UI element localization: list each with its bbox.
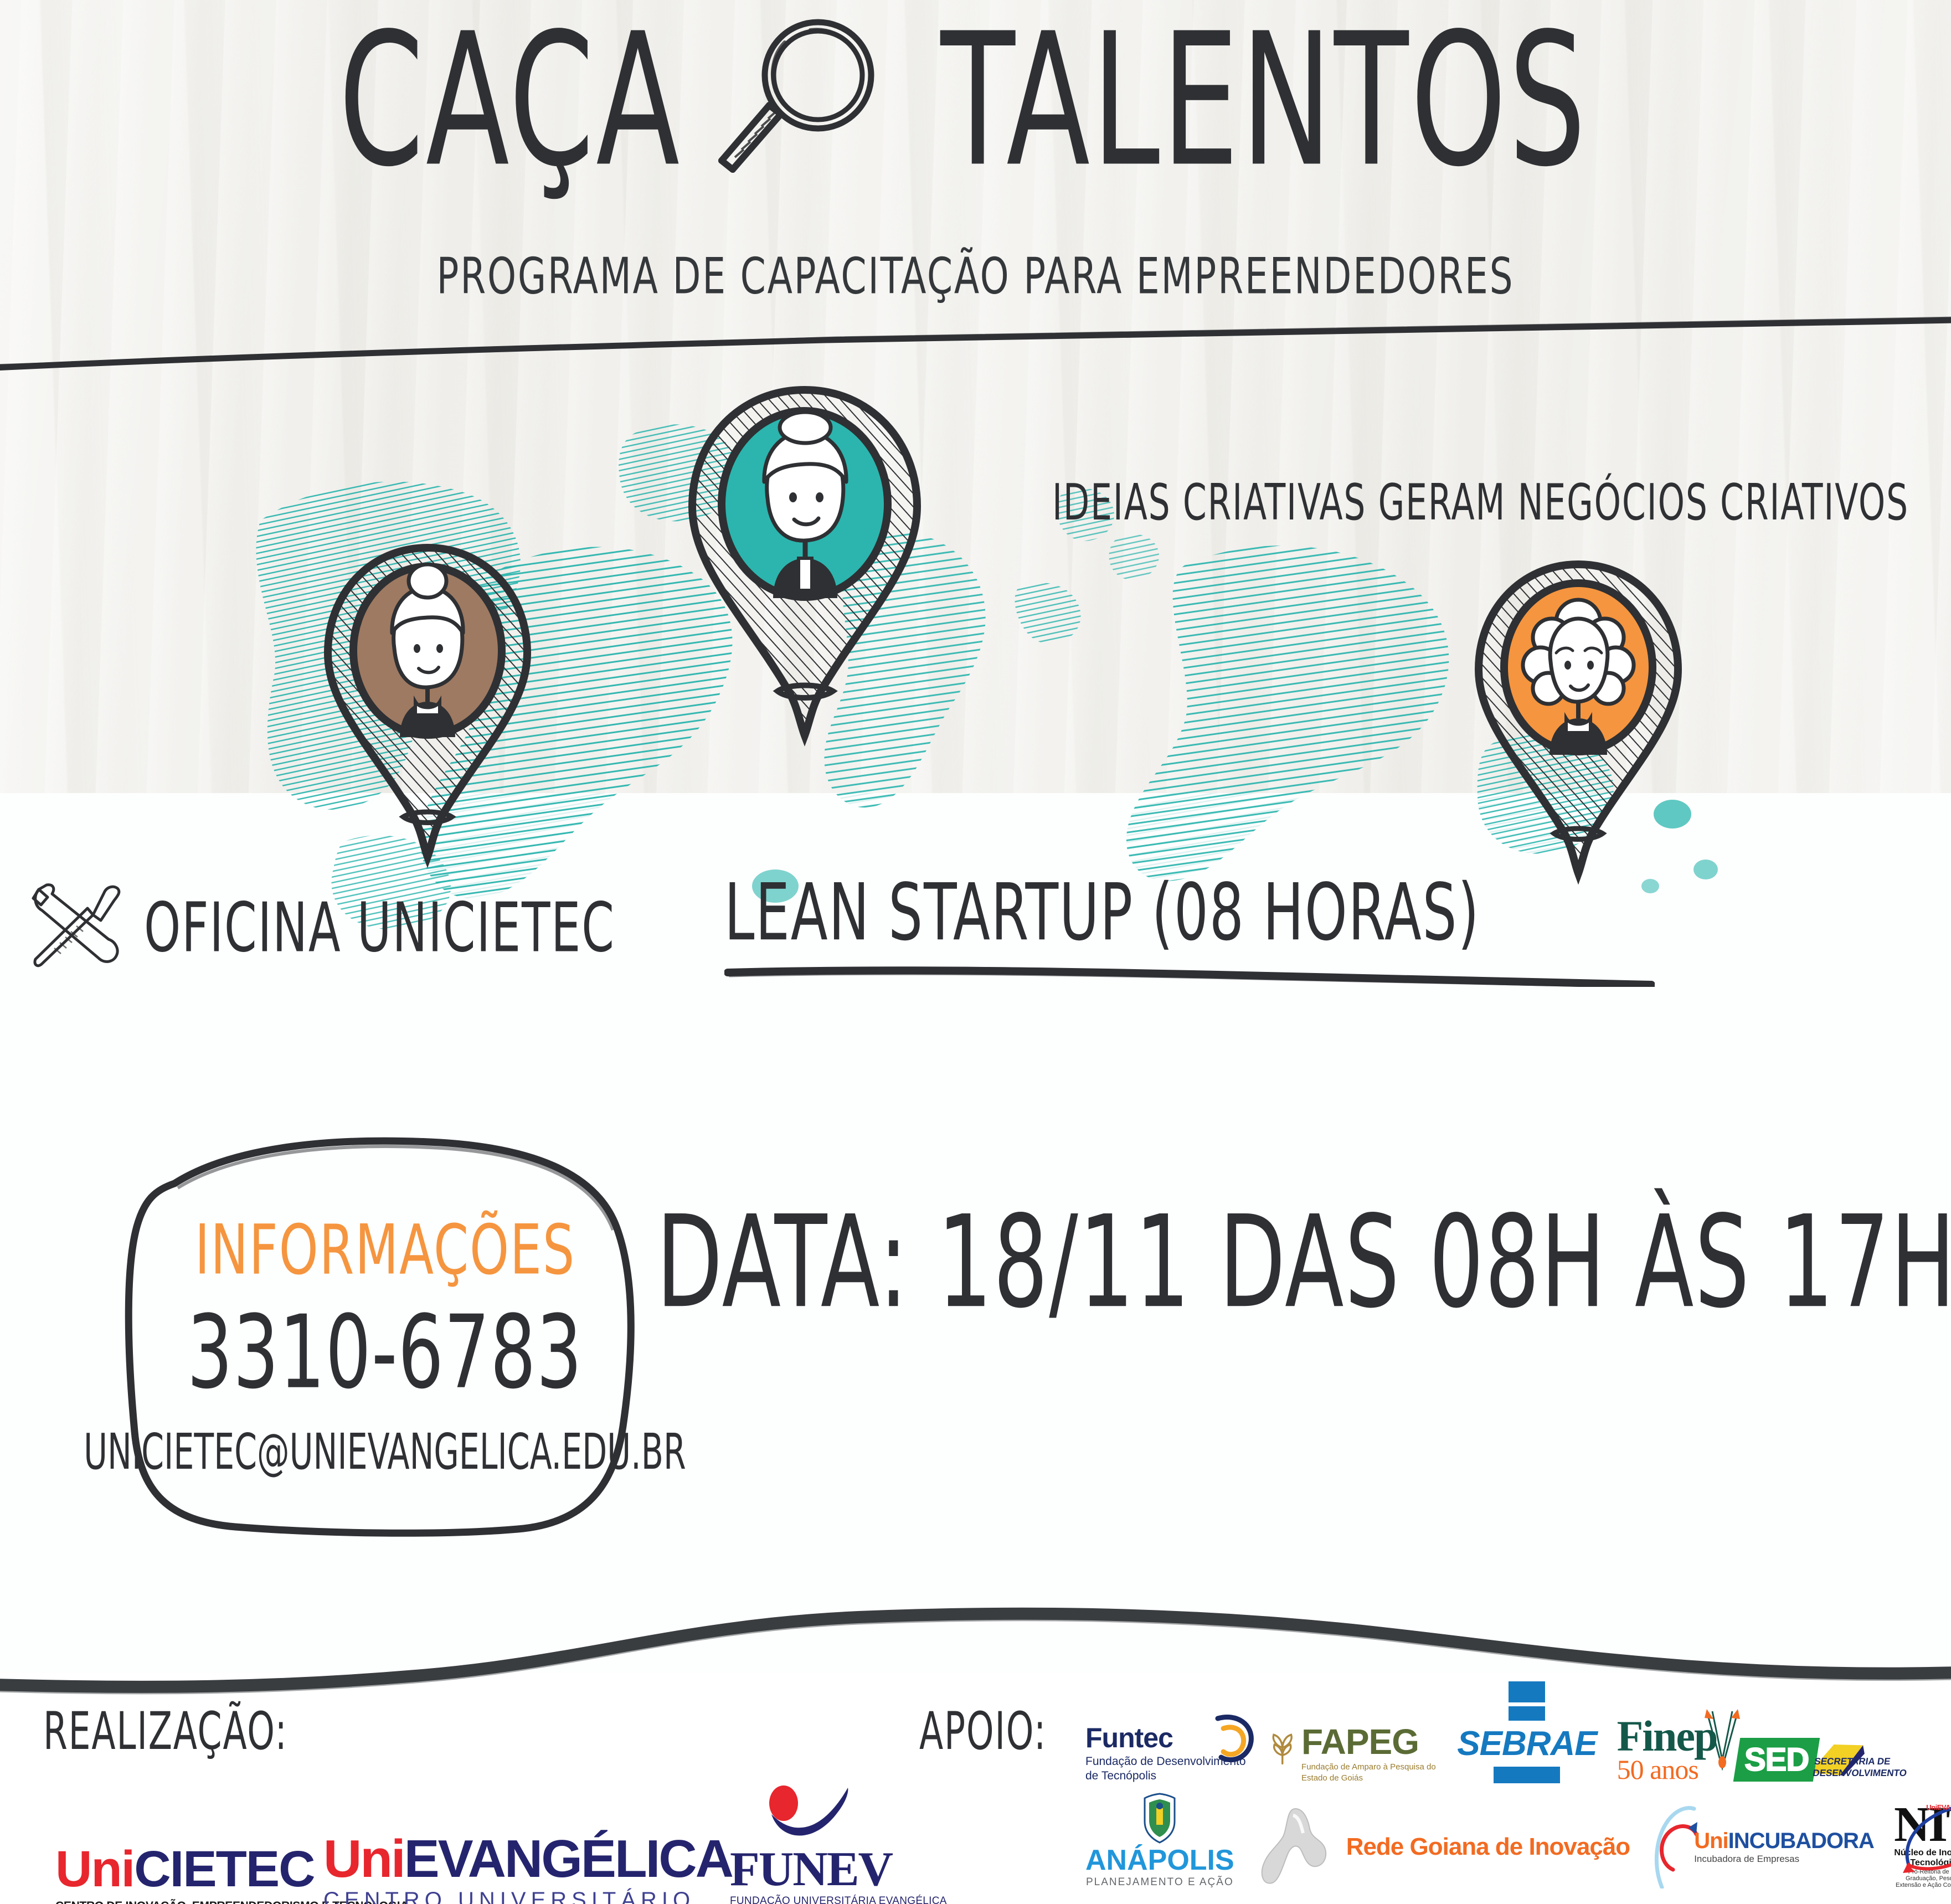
nit-badge: UniEVANGÉLICA: [1926, 1803, 1951, 1812]
poster-footer: REALIZAÇÃO: APOIO: UniCIETEC CENTRO DE I…: [0, 1673, 1951, 1904]
oficina-block: OFICINA UNICIETEC: [25, 881, 667, 975]
unicietec-wordmark: UniCIETEC: [55, 1845, 288, 1893]
poster-title-part2: TALENTOS: [940, 16, 1588, 188]
finep-wordmark: Finep: [1617, 1717, 1717, 1756]
logo-sebrae: SEBRAE: [1457, 1681, 1597, 1783]
unievangelica-tagline: CENTRO UNIVERSITÁRIO: [323, 1888, 694, 1904]
apoio-row-2: ANÁPOLIS PLANEJAMENTO E AÇÃO Rede Goiana…: [1085, 1783, 1933, 1888]
info-heading: INFORMAÇÕES: [194, 1211, 575, 1290]
sebrae-bar-mid: [1509, 1706, 1545, 1721]
logo-unievangelica: UniEVANGÉLICA CENTRO UNIVERSITÁRIO: [323, 1834, 694, 1904]
anapolis-wordmark: ANÁPOLIS: [1085, 1846, 1234, 1875]
funev-wordmark: FUNEV: [730, 1846, 879, 1893]
magnifying-glass-icon: [707, 10, 890, 193]
course-title: LEAN STARTUP (08 HORAS): [724, 866, 1581, 958]
poster-header: CAÇA: [0, 0, 1951, 332]
sebrae-bar-top: [1509, 1681, 1545, 1702]
logo-nit: UniEVANGÉLICA NIT Núcleo de Inovação Tec…: [1894, 1802, 1951, 1888]
logo-rede-goiana: Rede Goiana de Inovação: [1254, 1805, 1630, 1888]
map-pin-orange: [1468, 557, 1689, 900]
info-phone[interactable]: 3310-6783: [187, 1293, 583, 1411]
uniincubadora-swoosh-icon: [1650, 1805, 1698, 1888]
wrench-screwdriver-icon: [25, 881, 131, 975]
info-bubble: INFORMAÇÕES 3310-6783 UNICIETEC@UNIEVANG…: [108, 1133, 662, 1542]
funtec-swirl-icon: [1207, 1712, 1255, 1765]
info-email[interactable]: UNICIETEC@UNIEVANGELICA.EDU.BR: [84, 1423, 686, 1480]
hero-tagline: IDEIAS CRIATIVAS GERAM NEGÓCIOS CRIATIVO…: [1052, 473, 1830, 531]
rede-goiana-wordmark: Rede Goiana de Inovação: [1346, 1833, 1630, 1861]
uniincubadora-wordmark-a: Uni: [1694, 1829, 1728, 1853]
unievangelica-wordmark-a: Uni: [323, 1829, 404, 1888]
logo-sed: SED SECRETARIA DE DESENVOLVIMENTO: [1737, 1736, 1933, 1783]
rede-goiana-blob-icon: [1254, 1805, 1343, 1888]
poster-subtitle: PROGRAMA DE CAPACITAÇÃO PARA EMPREENDEDO…: [78, 247, 1873, 305]
sebrae-wordmark: SEBRAE: [1457, 1724, 1597, 1763]
logo-anapolis: ANÁPOLIS PLANEJAMENTO E AÇÃO: [1085, 1792, 1234, 1888]
apoio-logos: Funtec Fundação de Desenvolvimento de Te…: [1085, 1678, 1933, 1888]
logo-funtec: Funtec Fundação de Desenvolvimento de Te…: [1085, 1724, 1248, 1784]
unicietec-wordmark-b: CIETEC: [134, 1841, 314, 1897]
poster-root: CAÇA: [0, 0, 1951, 1904]
funev-swoosh-icon: [755, 1783, 854, 1844]
logo-finep: Finep 50 anos: [1617, 1717, 1717, 1783]
anapolis-crest-icon: [1141, 1792, 1178, 1845]
title-row: CAÇA: [0, 10, 1951, 193]
map-pin-brown: [317, 540, 538, 883]
info-content: INFORMAÇÕES 3310-6783 UNICIETEC@UNIEVANG…: [108, 1133, 662, 1542]
unicietec-wordmark-a: Uni: [55, 1841, 134, 1897]
apoio-label: APOIO:: [919, 1702, 1047, 1762]
fapeg-leaf-icon: [1268, 1724, 1297, 1773]
sed-badge: SED: [1733, 1738, 1820, 1782]
logo-unicietec: UniCIETEC CENTRO DE INOVAÇÃO, EMPREENDED…: [55, 1845, 288, 1904]
unievangelica-wordmark-b: EVANGÉLICA: [404, 1829, 732, 1888]
logo-fapeg: FAPEG Fundação de Amparo à Pesquisa do E…: [1268, 1724, 1438, 1783]
sed-wordmark: SED: [1744, 1741, 1809, 1778]
funev-tagline: FUNDAÇÃO UNIVERSITÁRIA EVANGÉLICA: [730, 1895, 879, 1904]
anapolis-tagline: PLANEJAMENTO E AÇÃO: [1085, 1876, 1234, 1888]
realizacao-logos: UniCIETEC CENTRO DE INOVAÇÃO, EMPREENDED…: [55, 1783, 879, 1904]
uniincubadora-tagline: Incubadora de Empresas: [1694, 1854, 1874, 1865]
realizacao-label: REALIZAÇÃO:: [43, 1702, 288, 1762]
poster-title-part1: CAÇA: [338, 16, 681, 188]
oficina-label: OFICINA UNICIETEC: [144, 888, 615, 968]
course-underline: [724, 965, 1655, 987]
uniincubadora-wordmark-b: INCUBADORA: [1728, 1829, 1874, 1853]
logo-uniincubadora: UniINCUBADORA Incubadora de Empresas: [1650, 1805, 1874, 1888]
unievangelica-wordmark: UniEVANGÉLICA: [323, 1834, 694, 1884]
fapeg-tagline: Fundação de Amparo à Pesquisa do Estado …: [1301, 1762, 1437, 1783]
map-pin-teal: [680, 381, 929, 769]
fapeg-wordmark: FAPEG: [1301, 1724, 1437, 1759]
course-block: LEAN STARTUP (08 HORAS): [724, 874, 1655, 987]
unicietec-tagline: CENTRO DE INOVAÇÃO, EMPREENDEDORISMO E T…: [55, 1900, 288, 1904]
uniincubadora-wordmark: UniINCUBADORA: [1694, 1830, 1874, 1852]
workshop-row: OFICINA UNICIETEC LEAN STARTUP (08 HORAS…: [0, 881, 1951, 997]
uniincubadora-text: UniINCUBADORA Incubadora de Empresas: [1694, 1830, 1874, 1865]
sed-tagline: SECRETARIA DE DESENVOLVIMENTO: [1812, 1756, 1934, 1779]
sebrae-bar-bottom: [1494, 1767, 1560, 1783]
schedule-date-line: DATA: 18/11 DAS 08H ÀS 17H: [656, 1188, 1951, 1336]
apoio-row-1: Funtec Fundação de Desenvolvimento de Te…: [1085, 1678, 1933, 1783]
logo-funev: FUNEV FUNDAÇÃO UNIVERSITÁRIA EVANGÉLICA: [730, 1783, 879, 1904]
